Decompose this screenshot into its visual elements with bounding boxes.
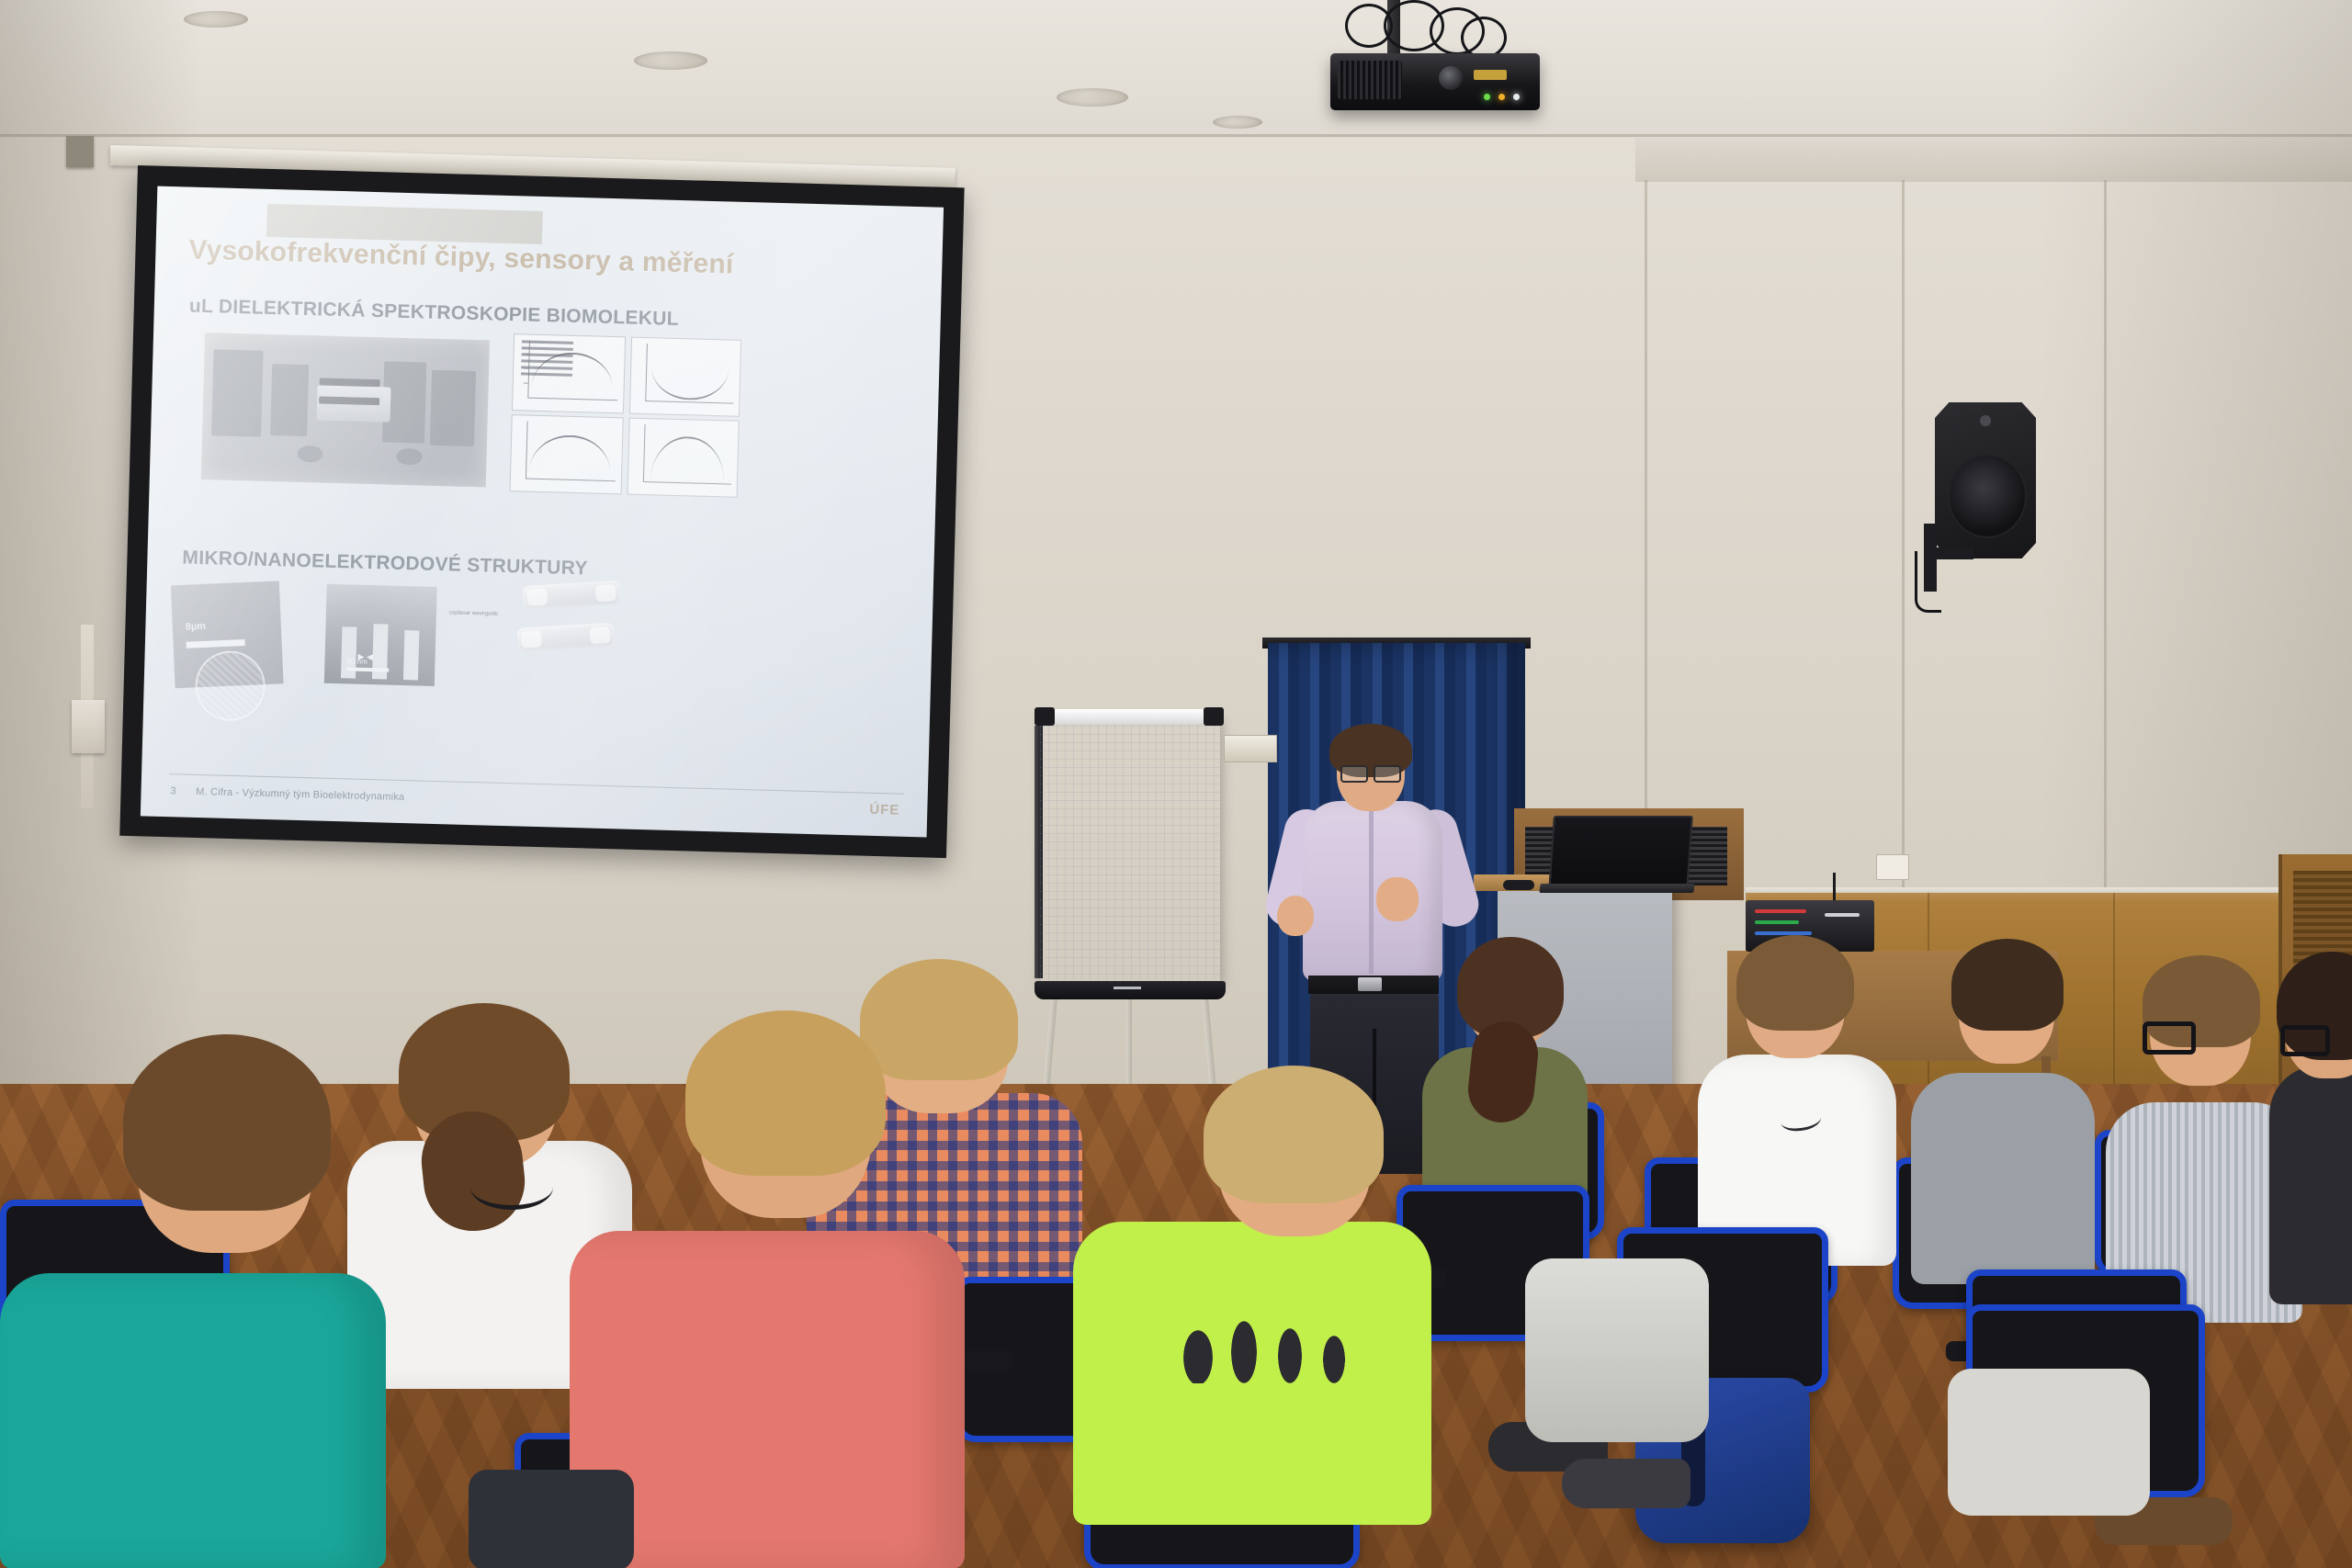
ceiling-vent-1 [184, 11, 248, 28]
flipchart-tray [1035, 981, 1226, 999]
presenter-belt-buckle [1358, 977, 1382, 991]
person-glasses [2143, 1021, 2196, 1055]
ceiling-vent-2 [634, 51, 707, 70]
top-neckline [470, 1165, 553, 1210]
slide-title: Vysokofrekvenční čipy, sensory a měření [188, 235, 944, 287]
flipchart-clip-right [1204, 707, 1224, 726]
person-hair [860, 959, 1018, 1080]
person-body [2269, 1066, 2352, 1304]
projected-slide: Vysokofrekvenční čipy, sensory a měření … [141, 186, 944, 838]
slide-page-number: 3 [170, 785, 176, 796]
ceiling [0, 0, 2352, 138]
slide-section-heading-2: MIKRO/NANOELEKTRODOVÉ STRUKTURY [182, 547, 588, 580]
projection-screen: Vysokofrekvenční čipy, sensory a měření … [119, 165, 964, 858]
ceiling-cornice [0, 134, 2352, 137]
presenter-hand-right [1376, 877, 1419, 921]
screen-tension-box [72, 700, 105, 753]
ceiling-vent-3 [1057, 88, 1128, 107]
ceiling-light-fixture [1213, 116, 1262, 129]
person-hair [1736, 935, 1854, 1031]
slide-plot-top-right [629, 337, 741, 417]
shoe-right [1562, 1459, 1690, 1508]
projector-badge [1474, 70, 1507, 80]
projector-vent [1338, 61, 1402, 99]
person-legs-light-trousers [1525, 1258, 1709, 1442]
person-glasses [2280, 1025, 2330, 1056]
projector-lens [1439, 66, 1463, 90]
slide-footer: 3 M. Cifra - Výzkumný tým Bioelektrodyna… [170, 785, 404, 803]
person-hair [123, 1034, 331, 1211]
laptop-screen[interactable] [1548, 816, 1693, 891]
slide-electrode-ring [194, 649, 266, 722]
laptop-keyboard[interactable] [1539, 884, 1694, 893]
slide-mid-annotation: coplanar waveguide [449, 609, 499, 619]
person-hair [1204, 1066, 1384, 1203]
lecture-hall-scene: Vysokofrekvenční čipy, sensory a měření … [0, 0, 2352, 1568]
flipchart-paper-roll [1036, 709, 1220, 724]
slide-footer-text: M. Cifra - Výzkumný tým Bioelektrodynami… [196, 786, 404, 803]
projector-led-white [1513, 94, 1520, 100]
tshirt-silhouette-graphic [1183, 1315, 1367, 1383]
person-body [1911, 1073, 2095, 1284]
slide-sem-image-nanogap: ▶ ◀ 50 nm [324, 584, 437, 686]
flipchart-paper [1040, 716, 1220, 983]
presenter-shirt-placket [1369, 808, 1374, 974]
person-hair [1951, 939, 2064, 1031]
flipchart-clip-left [1035, 707, 1055, 726]
wainscot-seam-2 [2113, 893, 2115, 1104]
wall-seam-2 [1902, 180, 1905, 897]
projector-led-amber [1498, 94, 1505, 100]
slide-chip-render-2 [517, 623, 615, 652]
slide-plot-bottom-right [627, 418, 739, 498]
slide-content: Vysokofrekvenční čipy, sensory a měření … [141, 186, 944, 838]
person-hair [685, 1010, 886, 1176]
presenter-glasses [1340, 765, 1401, 779]
speaker-cable [1915, 551, 1941, 613]
slide-sem-image-electrode: 8µm [171, 581, 284, 688]
bag-dark[interactable] [469, 1470, 634, 1568]
wall-seam-1 [1645, 180, 1647, 897]
slide-chip-render-1 [523, 581, 620, 610]
slide-plot-top-left [512, 333, 626, 413]
slide-section-heading-1: uL DIELEKTRICKÁ SPEKTROSKOPIE BIOMOLEKUL [189, 296, 680, 331]
speaker-tweeter [1980, 415, 1991, 426]
ceiling-projector [1330, 53, 1540, 110]
presenter-remote[interactable] [1503, 880, 1534, 890]
person-legs-shorts [1948, 1369, 2150, 1516]
person-body [0, 1273, 386, 1568]
projector-led-green [1484, 94, 1490, 100]
slide-scale-bar-left [187, 639, 245, 649]
screen-wall-bracket [66, 136, 94, 167]
slide-photo-measurement-setup [201, 333, 490, 487]
slide-institute-logo: ÚFE [869, 802, 899, 818]
slide-scale-label-right: 50 nm [346, 657, 367, 666]
wall-card-holder [1224, 735, 1277, 762]
wall-seam-3 [2104, 180, 2107, 897]
presenter-hand-left [1277, 896, 1314, 936]
slide-scale-label-left: 8µm [186, 621, 207, 633]
slide-plot-bottom-left [510, 414, 624, 494]
